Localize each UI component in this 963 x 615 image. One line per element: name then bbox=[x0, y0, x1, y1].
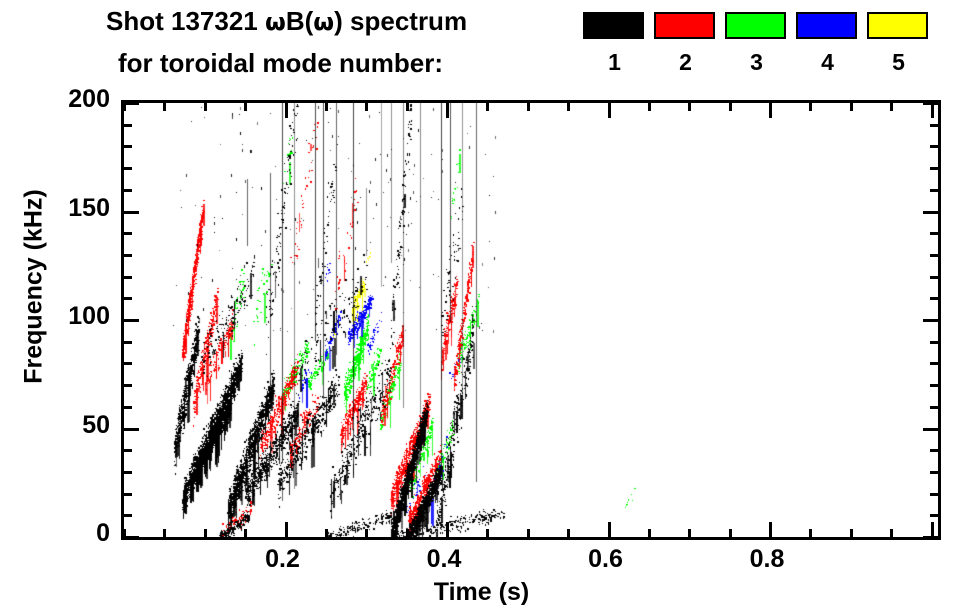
y-axis-title: Frequency (kHz) bbox=[20, 147, 49, 427]
tick-mark bbox=[930, 406, 938, 409]
omega-symbol-2: ω bbox=[313, 8, 334, 36]
tick-mark bbox=[124, 102, 139, 105]
tick-mark bbox=[608, 103, 611, 118]
tick-mark bbox=[930, 341, 938, 344]
x-tick-label: 0.4 bbox=[404, 547, 484, 572]
tick-mark bbox=[930, 276, 938, 279]
tick-mark bbox=[285, 103, 288, 118]
tick-mark bbox=[325, 103, 328, 111]
x-axis-tick-labels: 0.20.40.60.8 bbox=[121, 547, 935, 579]
tick-mark bbox=[931, 103, 934, 118]
tick-mark bbox=[930, 362, 938, 365]
tick-mark bbox=[124, 362, 132, 365]
tick-mark bbox=[124, 428, 139, 431]
tick-mark bbox=[365, 103, 368, 111]
tick-mark bbox=[930, 449, 938, 452]
tick-mark bbox=[325, 529, 328, 537]
tick-mark bbox=[930, 167, 938, 170]
tick-mark bbox=[285, 522, 288, 537]
y-axis-tick-labels: 050100150200 bbox=[0, 100, 110, 534]
tick-mark bbox=[124, 124, 132, 127]
legend-label-4: 4 bbox=[796, 51, 859, 74]
page-title: Shot 137321 ωB(ω) spectrum bbox=[106, 6, 467, 37]
tick-mark bbox=[244, 103, 247, 111]
tick-mark bbox=[769, 522, 772, 537]
tick-mark bbox=[608, 522, 611, 537]
legend-label-3: 3 bbox=[725, 51, 788, 74]
page-subtitle: for toroidal mode number: bbox=[118, 48, 443, 79]
tick-mark bbox=[406, 529, 409, 537]
tick-mark bbox=[124, 211, 139, 214]
tick-mark bbox=[124, 167, 132, 170]
tick-mark bbox=[124, 189, 132, 192]
title-mid: B( bbox=[286, 6, 313, 36]
tick-mark bbox=[729, 529, 732, 537]
legend-entry-5[interactable]: 5 bbox=[867, 12, 930, 74]
tick-mark bbox=[124, 276, 132, 279]
tick-mark bbox=[648, 529, 651, 537]
tick-mark bbox=[124, 449, 132, 452]
tick-mark bbox=[567, 529, 570, 537]
tick-mark bbox=[890, 529, 893, 537]
tick-mark bbox=[688, 529, 691, 537]
tick-mark bbox=[123, 529, 126, 537]
tick-mark bbox=[124, 384, 132, 387]
tick-mark bbox=[527, 529, 530, 537]
tick-mark bbox=[123, 103, 126, 111]
x-tick-label: 0.6 bbox=[566, 547, 646, 572]
tick-mark bbox=[923, 319, 938, 322]
tick-mark bbox=[688, 103, 691, 111]
tick-mark bbox=[124, 493, 132, 496]
tick-mark bbox=[890, 103, 893, 111]
plot-page: Shot 137321 ωB(ω) spectrum for toroidal … bbox=[0, 0, 963, 615]
tick-mark bbox=[930, 514, 938, 517]
tick-mark bbox=[809, 529, 812, 537]
x-axis-title: Time (s) bbox=[0, 578, 963, 607]
tick-mark bbox=[446, 522, 449, 537]
tick-mark bbox=[124, 406, 132, 409]
title-suffix: ) spectrum bbox=[334, 6, 467, 36]
tick-mark bbox=[406, 103, 409, 111]
tick-mark bbox=[769, 103, 772, 118]
tick-mark bbox=[124, 471, 132, 474]
tick-mark bbox=[486, 529, 489, 537]
legend: 1 2 3 4 5 bbox=[583, 12, 938, 92]
tick-mark bbox=[163, 529, 166, 537]
tick-mark bbox=[930, 254, 938, 257]
plot-area bbox=[121, 100, 941, 540]
tick-mark bbox=[567, 103, 570, 111]
legend-entry-3[interactable]: 3 bbox=[725, 12, 788, 74]
legend-label-2: 2 bbox=[654, 51, 717, 74]
tick-mark bbox=[930, 471, 938, 474]
tick-mark bbox=[809, 103, 812, 111]
x-tick-label: 0.2 bbox=[243, 547, 323, 572]
tick-mark bbox=[931, 522, 934, 537]
tick-mark bbox=[729, 103, 732, 111]
y-tick-label: 200 bbox=[10, 87, 110, 112]
legend-swatch-3 bbox=[725, 12, 786, 39]
tick-mark bbox=[124, 297, 132, 300]
legend-swatch-4 bbox=[796, 12, 857, 39]
legend-label-1: 1 bbox=[583, 51, 646, 74]
tick-mark bbox=[930, 189, 938, 192]
tick-mark bbox=[124, 254, 132, 257]
legend-swatch-2 bbox=[654, 12, 715, 39]
legend-entry-4[interactable]: 4 bbox=[796, 12, 859, 74]
tick-mark bbox=[930, 145, 938, 148]
tick-mark bbox=[124, 514, 132, 517]
x-tick-label: 0.8 bbox=[727, 547, 807, 572]
tick-mark bbox=[648, 103, 651, 111]
tick-mark bbox=[930, 124, 938, 127]
title-prefix: Shot 137321 bbox=[106, 6, 265, 36]
tick-mark bbox=[204, 529, 207, 537]
omega-symbol-1: ω bbox=[265, 8, 286, 36]
tick-mark bbox=[930, 232, 938, 235]
tick-mark bbox=[124, 232, 132, 235]
tick-mark bbox=[204, 103, 207, 111]
tick-mark bbox=[527, 103, 530, 111]
legend-label-5: 5 bbox=[867, 51, 930, 74]
tick-mark bbox=[163, 103, 166, 111]
tick-mark bbox=[923, 428, 938, 431]
tick-mark bbox=[124, 536, 139, 539]
tick-mark bbox=[930, 493, 938, 496]
tick-mark bbox=[446, 103, 449, 118]
legend-swatch-5 bbox=[867, 12, 928, 39]
legend-entry-2[interactable]: 2 bbox=[654, 12, 717, 74]
tick-mark bbox=[923, 211, 938, 214]
tick-mark bbox=[124, 319, 139, 322]
tick-mark bbox=[365, 529, 368, 537]
tick-mark bbox=[124, 341, 132, 344]
tick-mark bbox=[244, 529, 247, 537]
tick-mark bbox=[930, 384, 938, 387]
legend-entry-1[interactable]: 1 bbox=[583, 12, 646, 74]
tick-mark bbox=[850, 103, 853, 111]
tick-mark bbox=[930, 297, 938, 300]
spectrogram-scatter-canvas bbox=[124, 103, 938, 537]
tick-mark bbox=[486, 103, 489, 111]
tick-mark bbox=[850, 529, 853, 537]
y-tick-label: 0 bbox=[10, 521, 110, 546]
tick-mark bbox=[124, 145, 132, 148]
legend-swatch-1 bbox=[583, 12, 644, 39]
